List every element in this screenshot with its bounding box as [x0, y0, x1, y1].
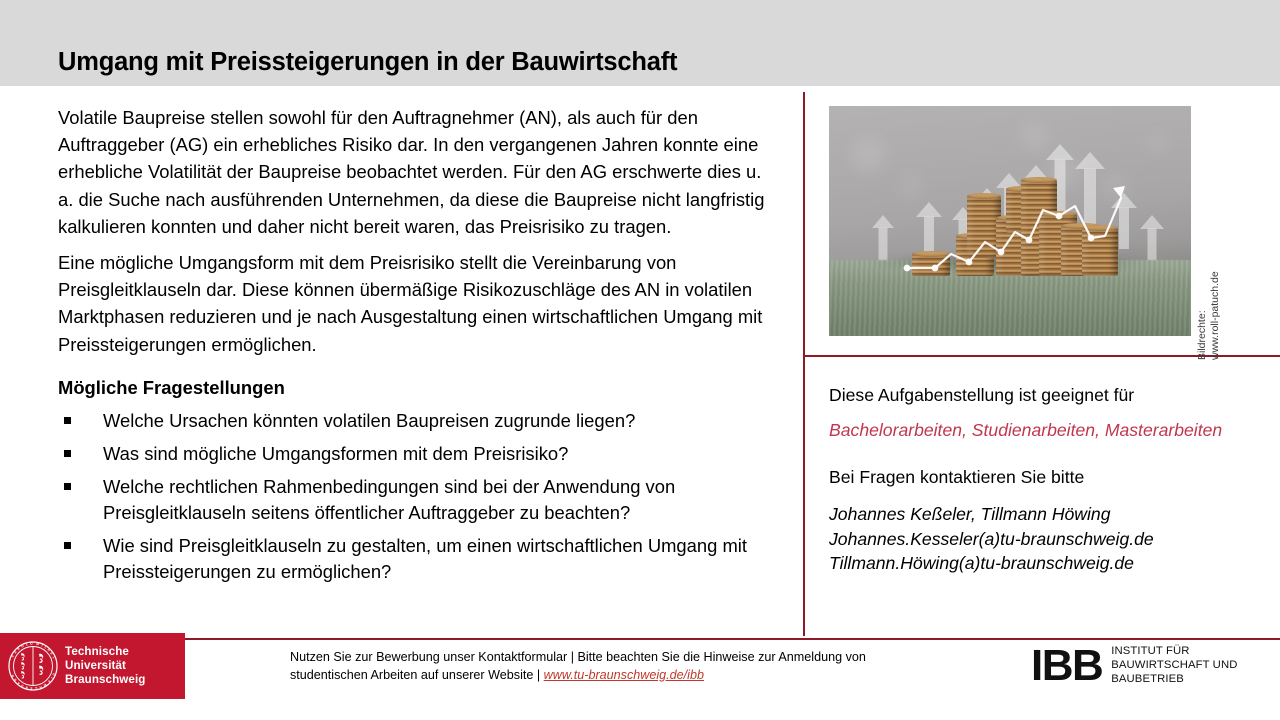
tu-braunschweig-logo: C A R O L O W I L H E L B R A U N S C H [0, 633, 185, 699]
tu-crest-icon: C A R O L O W I L H E L B R A U N S C H [8, 641, 58, 691]
contact-email-2[interactable]: Tillmann.Höwing(a)tu-braunschweig.de [829, 551, 1267, 576]
svg-text:O: O [20, 644, 25, 649]
square-bullet-icon [64, 542, 71, 549]
footer-note: Nutzen Sie zur Bewerbung unser Kontaktfo… [290, 649, 970, 684]
list-item: Welche Ursachen könnten volatilen Baupre… [58, 408, 780, 434]
vertical-divider [803, 92, 805, 636]
right-content-column: Diese Aufgabenstellung ist geeignet für … [829, 383, 1267, 576]
ibb-subtitle-line-3: BAUBETRIEB [1111, 673, 1237, 687]
suitable-thesis-types: Bachelorarbeiten, Studienarbeiten, Maste… [829, 418, 1267, 443]
figure-image [829, 106, 1191, 336]
contact-email-1[interactable]: Johannes.Kesseler(a)tu-braunschweig.de [829, 527, 1267, 552]
list-item: Wie sind Preisgleitklauseln zu gestalten… [58, 533, 780, 585]
svg-text:S: S [30, 686, 32, 690]
intro-paragraph-2: Eine mögliche Umgangsform mit dem Preisr… [58, 249, 780, 358]
footer-note-line-2-prefix: studentischen Arbeiten auf unserer Websi… [290, 668, 544, 682]
contact-names: Johannes Keßeler, Tillmann Höwing [829, 502, 1267, 527]
svg-text:G: G [51, 673, 56, 677]
footer-note-line-1: Nutzen Sie zur Bewerbung unser Kontaktfo… [290, 650, 866, 664]
list-item-label: Was sind mögliche Umgangsformen mit dem … [103, 443, 568, 464]
square-bullet-icon [64, 483, 71, 490]
contact-intro: Bei Fragen kontaktieren Sie bitte [829, 465, 1267, 490]
ibb-logo: IBB INSTITUT FÜR BAUWIRTSCHAFT UND BAUBE… [1031, 645, 1237, 686]
list-item-label: Welche Ursachen könnten volatilen Baupre… [103, 410, 635, 431]
ibb-subtitle: INSTITUT FÜR BAUWIRTSCHAFT UND BAUBETRIE… [1111, 645, 1237, 686]
list-item-label: Wie sind Preisgleitklauseln zu gestalten… [103, 535, 747, 582]
ibb-subtitle-line-2: BAUWIRTSCHAFT UND [1111, 659, 1237, 673]
svg-text:I: I [50, 676, 54, 679]
intro-paragraph-1: Volatile Baupreise stellen sowohl für de… [58, 104, 780, 240]
svg-text:W: W [43, 683, 48, 688]
tu-wordmark-line-2: Universität [65, 659, 145, 673]
ibb-subtitle-line-1: INSTITUT FÜR [1111, 645, 1237, 659]
image-credit-source: www.roll-patuch.de [1209, 271, 1222, 360]
list-item: Welche rechtlichen Rahmenbedingungen sin… [58, 474, 780, 526]
square-bullet-icon [64, 450, 71, 457]
questions-list: Welche Ursachen könnten volatilen Baupre… [58, 408, 780, 585]
list-item-label: Welche rechtlichen Rahmenbedingungen sin… [103, 476, 675, 523]
tu-wordmark-line-3: Braunschweig [65, 673, 145, 687]
horizontal-divider-footer [184, 638, 1280, 640]
tu-wordmark-line-1: Technische [65, 645, 145, 659]
svg-text:W: W [36, 642, 40, 647]
square-bullet-icon [64, 417, 71, 424]
questions-heading: Mögliche Fragestellungen [58, 374, 780, 401]
image-credit-label: Bildrechte: [1196, 310, 1209, 360]
tu-wordmark: Technische Universität Braunschweig [65, 645, 145, 688]
footer-website-link[interactable]: www.tu-braunschweig.de/ibb [544, 668, 704, 682]
suitable-intro: Diese Aufgabenstellung ist geeignet für [829, 383, 1267, 408]
svg-text:E: E [49, 651, 53, 655]
page-title: Umgang mit Preissteigerungen in der Bauw… [58, 48, 677, 77]
svg-text:I: I [41, 644, 44, 648]
left-content-column: Volatile Baupreise stellen sowohl für de… [58, 104, 780, 592]
growth-line-chart-icon [829, 106, 1191, 336]
figure-coins-growth [829, 106, 1191, 336]
ibb-wordmark: IBB [1031, 646, 1102, 686]
list-item: Was sind mögliche Umgangsformen mit dem … [58, 441, 780, 467]
